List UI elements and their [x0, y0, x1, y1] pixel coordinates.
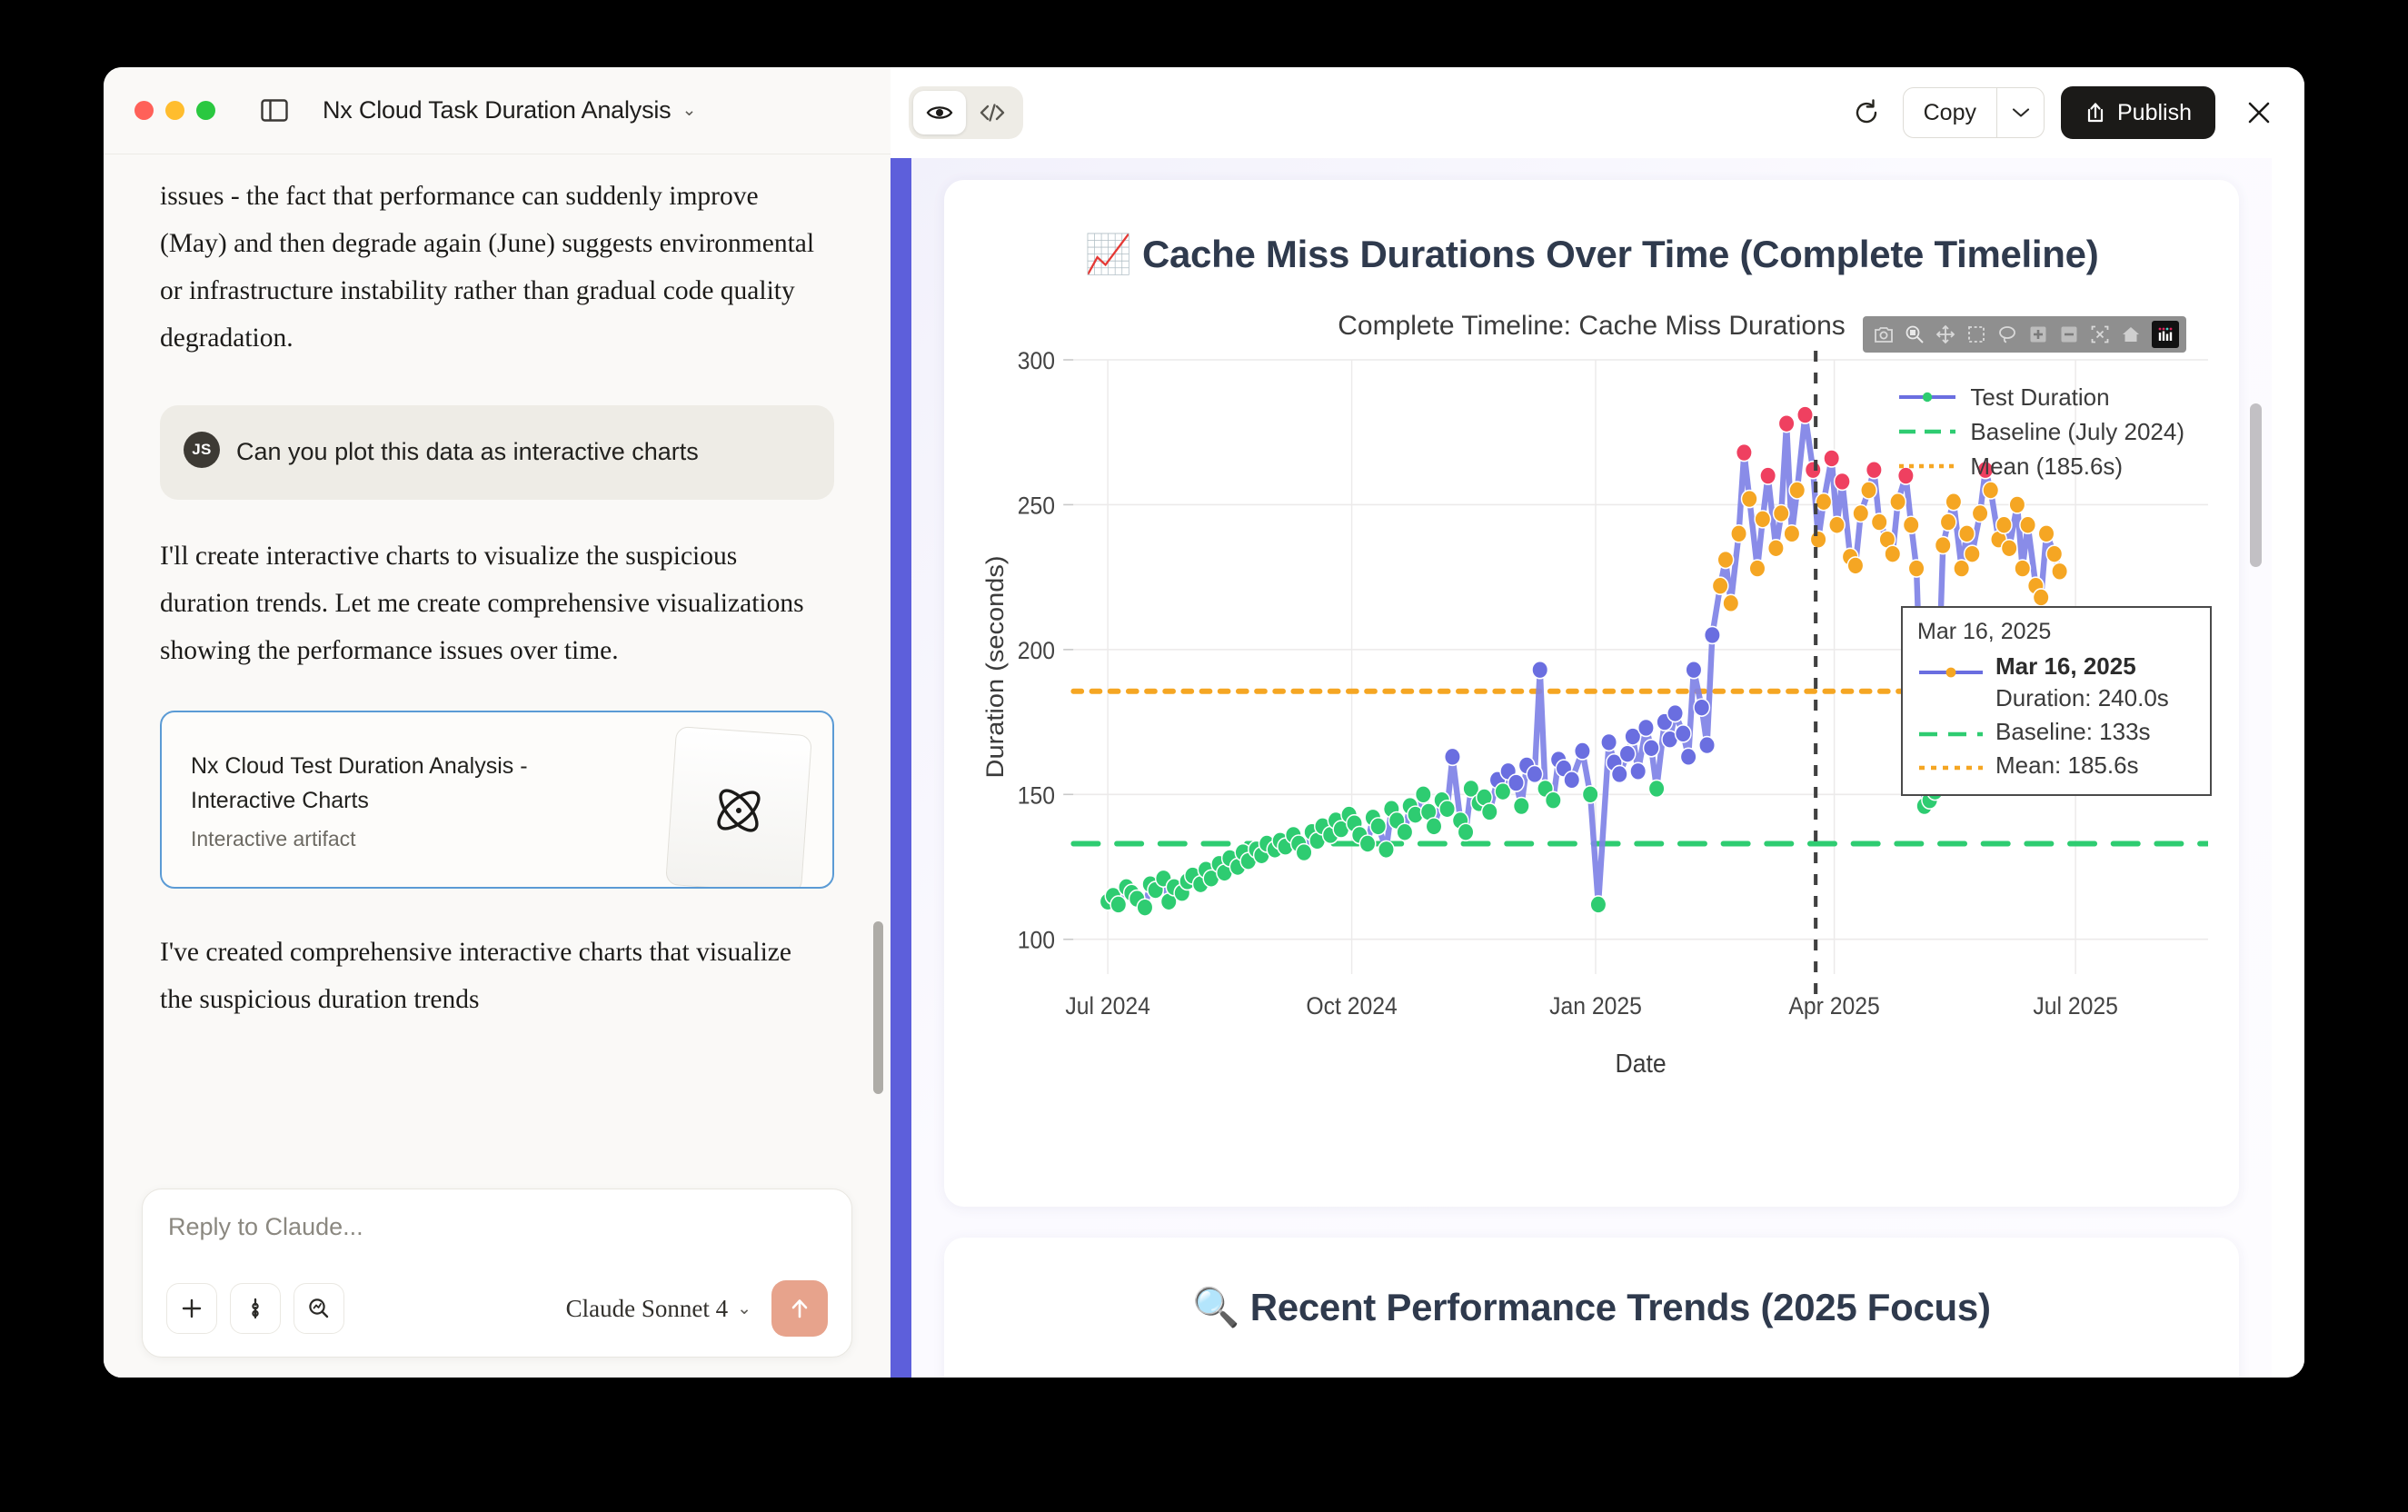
upload-icon — [2085, 101, 2106, 124]
tooltip-row-duration: Mar 16, 2025 Duration: 240.0s — [1917, 651, 2197, 714]
chart-up-icon: 📈 — [1085, 232, 1132, 276]
legend-label: Baseline (July 2024) — [1970, 418, 2184, 446]
composer-wrapper: Reply to Claude... — [104, 1178, 891, 1378]
chat-scrollbar[interactable] — [873, 921, 883, 1094]
user-message-text: Can you plot this data as interactive ch… — [236, 429, 699, 474]
autoscale-icon[interactable] — [2086, 321, 2114, 348]
tab-code[interactable] — [966, 91, 1019, 134]
legend-marker-baseline — [1897, 423, 1957, 440]
tooltip-baseline: Baseline: 133s — [1995, 716, 2151, 748]
camera-icon[interactable] — [1870, 321, 1897, 348]
svg-text:150: 150 — [1018, 782, 1055, 809]
composer[interactable]: Reply to Claude... — [142, 1189, 852, 1358]
legend-label: Test Duration — [1970, 383, 2109, 412]
tooltip-header: Mar 16, 2025 — [1917, 619, 2197, 645]
section-heading-2-text: Recent Performance Trends (2025 Focus) — [1250, 1286, 1991, 1328]
artifact-actions: Copy Publish — [1846, 86, 2281, 139]
reply-input-placeholder[interactable]: Reply to Claude... — [168, 1213, 826, 1241]
model-name: Claude Sonnet 4 — [566, 1295, 728, 1323]
pan-icon[interactable] — [1932, 321, 1959, 348]
magnifier-icon: 🔍 — [1192, 1285, 1239, 1329]
svg-text:Duration (seconds): Duration (seconds) — [981, 556, 1009, 779]
maximize-window-button[interactable] — [196, 101, 215, 120]
zoom-out-icon[interactable] — [2055, 321, 2083, 348]
artifact-content[interactable]: 📈 Cache Miss Durations Over Time (Comple… — [911, 158, 2272, 1378]
svg-text:Jul 2025: Jul 2025 — [2033, 993, 2118, 1020]
svg-text:Jan 2025: Jan 2025 — [1549, 993, 1642, 1020]
tab-preview[interactable] — [913, 91, 966, 134]
screen: Nx Cloud Task Duration Analysis ⌄ issues… — [0, 0, 2408, 1512]
assistant-paragraph-3: I've created comprehensive interactive c… — [160, 929, 825, 1023]
plot-legend: Test Duration Baseline (July 2024) — [1897, 380, 2184, 483]
close-artifact-button[interactable] — [2237, 91, 2281, 134]
svg-text:Jul 2024: Jul 2024 — [1065, 993, 1150, 1020]
assistant-message-3: I've created comprehensive interactive c… — [104, 889, 891, 1023]
legend-item-baseline[interactable]: Baseline (July 2024) — [1897, 414, 2184, 449]
research-button[interactable] — [294, 1283, 344, 1334]
box-select-icon[interactable] — [1963, 321, 1990, 348]
tooltip-date: Mar 16, 2025 — [1995, 651, 2169, 682]
svg-text:100: 100 — [1018, 928, 1055, 954]
model-selector[interactable]: Claude Sonnet 4 ⌄ — [566, 1295, 751, 1323]
sliders-icon — [244, 1297, 267, 1320]
chevron-down-icon: ⌄ — [682, 100, 696, 121]
app-window: Nx Cloud Task Duration Analysis ⌄ issues… — [104, 67, 2304, 1378]
artifact-card-title: Nx Cloud Test Duration Analysis - Intera… — [191, 749, 609, 818]
publish-label: Publish — [2117, 100, 2192, 126]
reset-axes-icon[interactable] — [2117, 321, 2144, 348]
svg-text:300: 300 — [1018, 348, 1055, 374]
window-title[interactable]: Nx Cloud Task Duration Analysis ⌄ — [323, 96, 696, 124]
avatar: JS — [184, 432, 220, 468]
plotly-modebar — [1863, 316, 2186, 353]
chat-pane: Nx Cloud Task Duration Analysis ⌄ issues… — [104, 67, 891, 1378]
copy-button-group: Copy — [1903, 87, 2045, 138]
lasso-select-icon[interactable] — [1994, 321, 2021, 348]
artifact-card-subtitle: Interactive artifact — [191, 827, 609, 851]
publish-button[interactable]: Publish — [2061, 86, 2215, 139]
send-button[interactable] — [771, 1280, 828, 1337]
assistant-message-1: issues - the fact that performance can s… — [104, 154, 891, 362]
atom-icon — [709, 780, 769, 840]
tooltip-row-baseline: Baseline: 133s — [1917, 716, 2197, 748]
tooltip-marker-duration — [1917, 651, 1985, 684]
chevron-down-icon: ⌄ — [737, 1298, 751, 1319]
svg-text:Date: Date — [1616, 1049, 1667, 1078]
tooltip-row-mean: Mean: 185.6s — [1917, 750, 2197, 781]
plot-area[interactable]: Test Duration Baseline (July 2024) — [975, 347, 2208, 1092]
svg-text:200: 200 — [1018, 638, 1055, 664]
zoom-icon[interactable] — [1901, 321, 1928, 348]
svg-text:Apr 2025: Apr 2025 — [1788, 993, 1879, 1020]
plus-icon — [180, 1297, 204, 1320]
user-message: JS Can you plot this data as interactive… — [160, 405, 834, 500]
artifact-toolbar: Copy Publish — [891, 67, 2304, 158]
legend-marker-mean — [1897, 458, 1957, 474]
chart-card-recent-trends: 🔍 Recent Performance Trends (2025 Focus) — [944, 1238, 2239, 1378]
refresh-button[interactable] — [1846, 93, 1886, 133]
close-icon — [2245, 99, 2273, 126]
zoom-in-icon[interactable] — [2025, 321, 2052, 348]
tools-button[interactable] — [230, 1283, 281, 1334]
code-icon — [979, 102, 1006, 124]
assistant-paragraph-2: I'll create interactive charts to visual… — [160, 532, 825, 674]
view-toggle-group — [909, 86, 1023, 139]
legend-marker-test-duration — [1897, 389, 1957, 405]
traffic-lights[interactable] — [134, 101, 215, 120]
assistant-message-2: I'll create interactive charts to visual… — [104, 500, 891, 674]
artifact-preview-card[interactable]: Nx Cloud Test Duration Analysis - Intera… — [160, 711, 834, 889]
window-titlebar: Nx Cloud Task Duration Analysis ⌄ — [104, 67, 891, 154]
refresh-icon — [1852, 98, 1881, 127]
sidebar-toggle-icon[interactable] — [257, 96, 292, 125]
window-title-text: Nx Cloud Task Duration Analysis — [323, 96, 671, 124]
artifact-thumbnail — [665, 726, 812, 889]
tooltip-marker-baseline — [1917, 716, 1985, 745]
legend-item-mean[interactable]: Mean (185.6s) — [1897, 449, 2184, 483]
svg-text:250: 250 — [1018, 493, 1055, 520]
chevron-down-icon — [2012, 107, 2030, 118]
search-chart-icon — [307, 1297, 331, 1320]
artifact-left-rail — [891, 158, 911, 1378]
arrow-up-icon — [787, 1296, 812, 1321]
tooltip-marker-mean — [1917, 750, 1985, 779]
eye-icon — [926, 103, 953, 123]
assistant-paragraph-1: issues - the fact that performance can s… — [160, 173, 825, 362]
copy-button[interactable]: Copy — [1904, 87, 1996, 138]
copy-dropdown-button[interactable] — [1996, 88, 2044, 137]
legend-item-test-duration[interactable]: Test Duration — [1897, 380, 2184, 414]
legend-label: Mean (185.6s) — [1970, 453, 2123, 481]
tooltip-duration: Duration: 240.0s — [1995, 682, 2169, 714]
minimize-window-button[interactable] — [165, 101, 184, 120]
close-window-button[interactable] — [134, 101, 154, 120]
composer-toolbar: Claude Sonnet 4 ⌄ — [166, 1280, 828, 1337]
svg-text:Oct 2024: Oct 2024 — [1306, 993, 1397, 1020]
section-heading-2: 🔍 Recent Performance Trends (2025 Focus) — [944, 1285, 2239, 1330]
artifact-scrollbar[interactable] — [2250, 403, 2262, 567]
artifact-pane: Copy Publish — [891, 67, 2304, 1378]
attach-button[interactable] — [166, 1283, 217, 1334]
section-heading-1: 📈 Cache Miss Durations Over Time (Comple… — [975, 211, 2208, 283]
section-heading-1-text: Cache Miss Durations Over Time (Complete… — [1142, 233, 2098, 275]
tooltip-mean: Mean: 185.6s — [1995, 750, 2139, 781]
hover-tooltip: Mar 16, 2025 Mar 16, 2025 — [1901, 606, 2212, 796]
chart-card-complete-timeline: 📈 Cache Miss Durations Over Time (Comple… — [944, 180, 2239, 1207]
plotly-logo-icon[interactable] — [2152, 321, 2179, 348]
